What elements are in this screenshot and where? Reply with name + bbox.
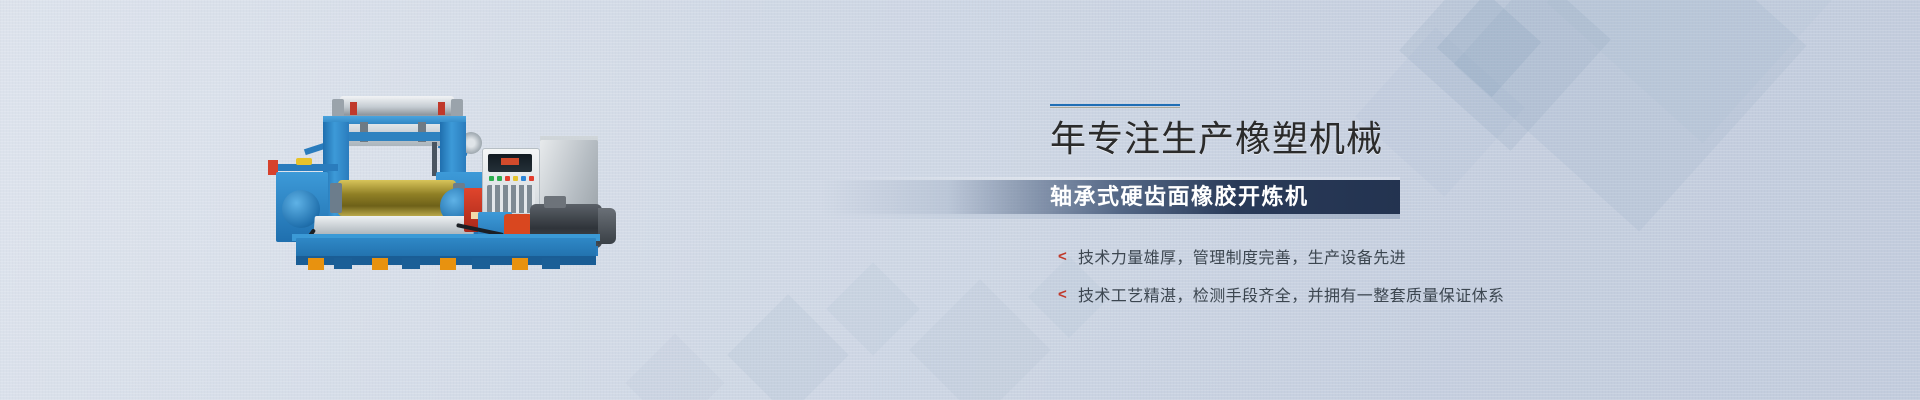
page-title: 年专注生产橡塑机械 [1050,119,1610,161]
subtitle-band-shadow [820,214,1400,219]
machine-base-gap-1 [334,258,352,269]
banner-content: 年专注生产橡塑机械 轴承式硬齿面橡胶开炼机 < 技术力量雄厚，管理制度完善，生产… [1050,104,1610,161]
machine-rod-right [432,142,437,176]
list-item-label: 技术力量雄厚，管理制度完善，生产设备先进 [1078,244,1406,268]
chevron-left-icon: < [1058,287,1072,302]
machine-top-roller-mark-r [438,102,445,115]
headline-rule [1050,104,1180,109]
machine-foot-1 [308,258,324,270]
list-item: < 技术力量雄厚，管理制度完善，生产设备先进 [1058,244,1658,268]
decorative-polygon-5 [1437,0,1542,97]
product-name: 轴承式硬齿面橡胶开炼机 [1050,183,1610,211]
machine-base-gap-2 [402,258,420,269]
machine-yellow-knob [296,158,312,165]
machine-motor-cap [598,208,616,244]
headline-rule-blue [1050,104,1180,106]
headline-rule-grey [1050,107,1180,108]
machine-main-roller-cap-l [330,183,342,213]
machine-motor-box [544,196,566,208]
decorative-diamond-3 [909,279,1050,400]
machine-top-roller-end-l [332,99,344,117]
list-item-label: 技术工艺精湛，检测手段齐全，并拥有一整套质量保证体系 [1078,282,1504,306]
machine-top-roller-mark-l [350,102,357,115]
control-panel-led-4 [513,176,518,181]
control-panel-keypad [487,185,535,213]
machine-top-roller-end-r [451,99,463,117]
control-panel-led-1 [489,176,494,181]
machine-foot-2 [372,258,388,270]
control-panel-led-3 [505,176,510,181]
machine-base-gap-4 [542,258,560,269]
control-panel-led-5 [521,176,526,181]
machine-foot-3 [440,258,456,270]
decorative-diamond-5 [626,334,725,400]
product-image-rubber-mixing-mill [268,88,640,284]
list-item: < 技术工艺精湛，检测手段齐全，并拥有一整套质量保证体系 [1058,282,1658,306]
decorative-diamond-2 [826,262,919,355]
control-panel-led-2 [497,176,502,181]
feature-list: < 技术力量雄厚，管理制度完善，生产设备先进 < 技术工艺精湛，检测手段齐全，并… [1058,244,1658,320]
machine-main-roller [338,180,456,216]
promo-banner: 年专注生产橡塑机械 轴承式硬齿面橡胶开炼机 < 技术力量雄厚，管理制度完善，生产… [0,0,1920,400]
machine-foot-4 [512,258,528,270]
machine-rail-left [272,164,338,171]
decorative-diamond-1 [727,294,849,400]
control-panel-led-6 [529,176,534,181]
chevron-left-icon: < [1058,249,1072,264]
control-panel-readout [501,158,519,165]
machine-base-gap-3 [472,258,490,269]
